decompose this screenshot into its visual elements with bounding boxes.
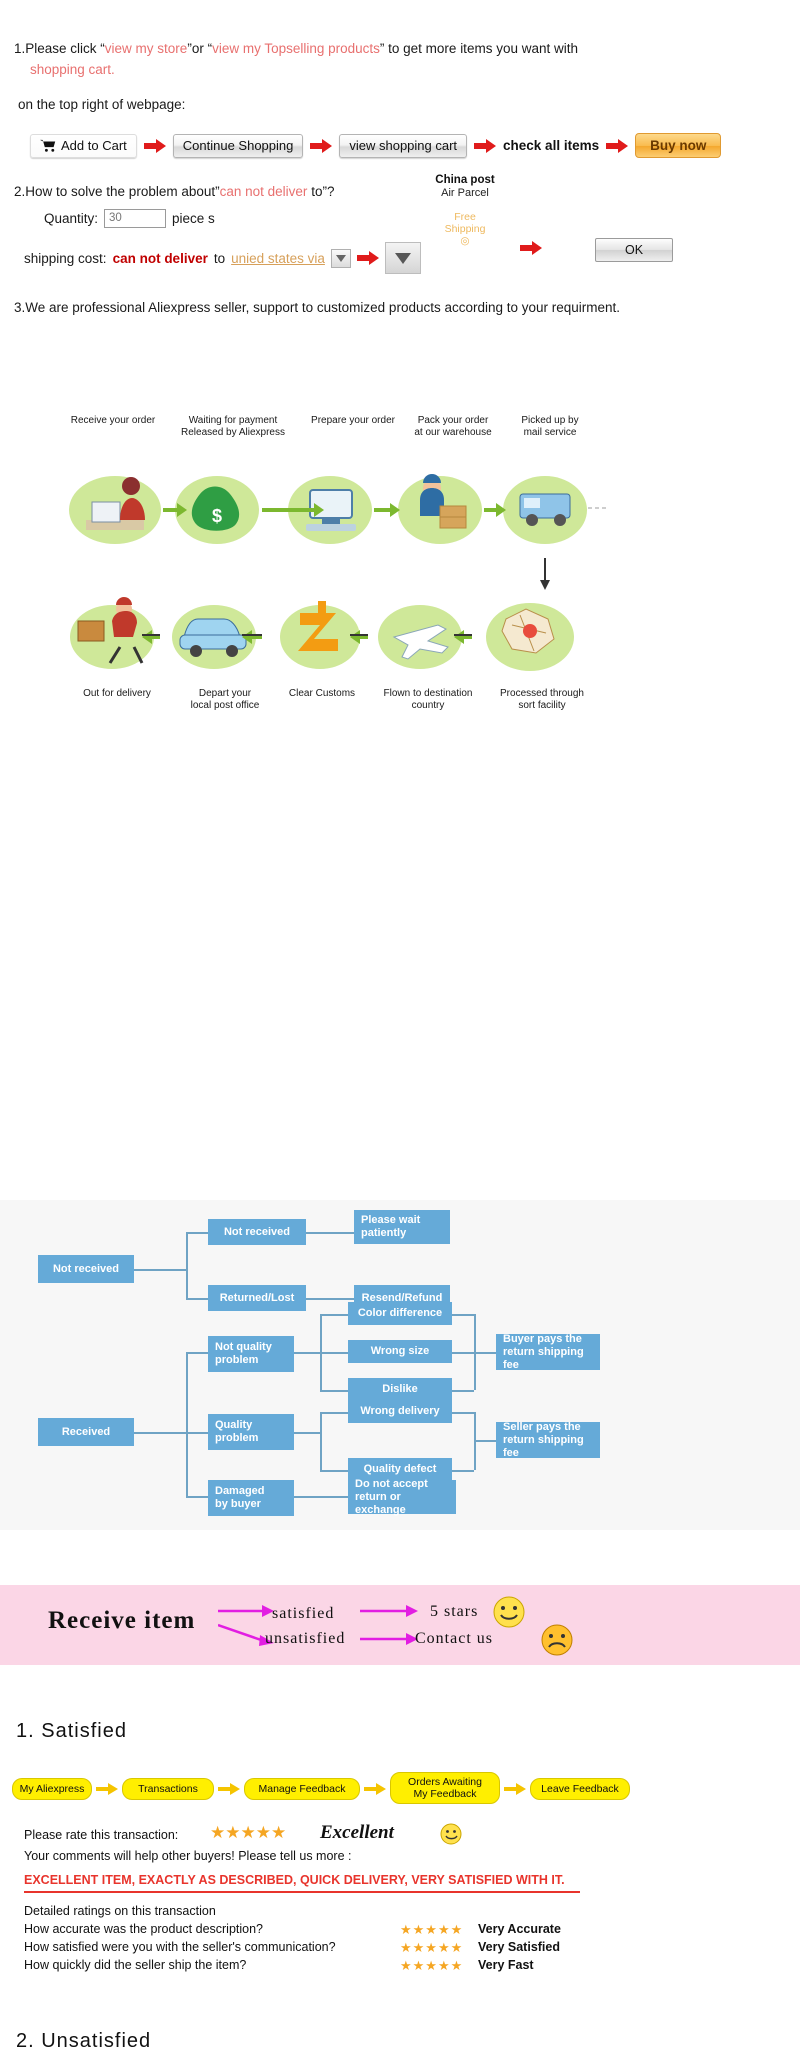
quantity-label: Quantity:	[44, 211, 98, 226]
flow-node-no-return: Do not acceptreturn or exchange	[348, 1480, 456, 1514]
yellow-arrow-icon	[504, 1783, 526, 1795]
flow-label-pack-order: Pack your orderat our warehouse	[398, 415, 508, 439]
section3-heading: 3.We are professional Aliexpress seller,…	[14, 300, 800, 315]
link-view-my-topselling[interactable]: view my Topselling products	[212, 41, 380, 56]
rating-question-0: How accurate was the product description…	[24, 1922, 263, 1936]
shipping-method-dropdown[interactable]	[385, 242, 421, 274]
section-2: 2.How to solve the problem about”can not…	[0, 184, 800, 274]
rating-question-2: How quickly did the seller ship the item…	[24, 1958, 246, 1972]
receive-item-title: Receive item	[48, 1607, 195, 1635]
rating-stars-2[interactable]: ★★★★★	[400, 1958, 463, 1974]
rating-value-1: Very Satisfied	[478, 1940, 560, 1954]
step-my-aliexpress[interactable]: My Aliexpress	[12, 1778, 92, 1800]
add-to-cart-button[interactable]: Add to Cart	[30, 134, 137, 158]
comments-help-label: Your comments will help other buyers! Pl…	[24, 1849, 351, 1863]
smiley-happy-icon	[492, 1595, 526, 1629]
flow-node-not-received-child: Not received	[208, 1219, 306, 1245]
rate-transaction-label: Please rate this transaction:	[24, 1828, 178, 1842]
section1-line1-b: ”or “	[187, 41, 212, 56]
flow-label-receive-order: Receive your order	[58, 415, 168, 427]
step-leave-feedback[interactable]: Leave Feedback	[530, 1778, 630, 1800]
buy-now-label: Buy now	[650, 135, 706, 156]
flow-label-waiting-payment: Waiting for paymentReleased by Aliexpres…	[168, 415, 298, 439]
flow-node-not-received-root: Not received	[38, 1255, 134, 1283]
yellow-arrow-icon	[96, 1783, 118, 1795]
section1-line1-c: ” to get more items you want with	[380, 41, 578, 56]
section2-heading: 2.How to solve the problem about”can not…	[14, 184, 800, 199]
free-shipping-label: Free Shipping ◎	[420, 211, 510, 247]
section1-line2: shopping cart.	[30, 59, 800, 80]
china-post-title: China post	[420, 174, 510, 186]
satisfied-label: satisfied	[272, 1605, 334, 1623]
shipping-label: shipping cost:	[24, 251, 107, 266]
flow-node-received-root: Received	[38, 1418, 134, 1446]
shipping-to: to	[214, 251, 225, 266]
yellow-arrow-icon	[364, 1783, 386, 1795]
rating-stars-1[interactable]: ★★★★★	[400, 1940, 463, 1956]
flow-label-picked-up: Picked up bymail service	[495, 415, 605, 439]
section2-heading-b: to”?	[307, 184, 334, 199]
satisfied-heading: 1. Satisfied	[16, 1720, 127, 1743]
red-arrow-icon	[606, 139, 628, 153]
flow-node-color-difference: Color difference	[348, 1302, 452, 1325]
flow-node-damaged-by-buyer: Damagedby buyer	[208, 1480, 294, 1516]
step-transactions[interactable]: Transactions	[122, 1778, 214, 1800]
continue-shopping-label: Continue Shopping	[183, 135, 294, 156]
unsatisfied-heading: 2. Unsatisfied	[16, 2030, 151, 2053]
yellow-arrow-icon	[218, 1783, 240, 1795]
step-manage-feedback[interactable]: Manage Feedback	[244, 1778, 360, 1800]
buy-now-button[interactable]: Buy now	[635, 133, 721, 158]
view-shopping-cart-label: view shopping cart	[349, 135, 457, 156]
step-orders-awaiting-my-feedback[interactable]: Orders AwaitingMy Feedback	[390, 1772, 500, 1804]
flow-label-sort-facility: Processed throughsort facility	[482, 688, 602, 712]
ok-button[interactable]: OK	[595, 238, 673, 262]
shopping-cart-icon	[40, 139, 56, 152]
detailed-ratings-title: Detailed ratings on this transaction	[24, 1904, 216, 1918]
red-arrow-icon	[357, 251, 379, 265]
flow-label-depart-post-office: Depart yourlocal post office	[170, 688, 280, 712]
quantity-input[interactable]: 30	[104, 209, 166, 228]
china-post-block: China post Air Parcel Free Shipping ◎	[420, 174, 510, 247]
flow-node-quality-problem: Qualityproblem	[208, 1414, 294, 1450]
section2-heading-red: can not deliver	[220, 184, 308, 199]
chevron-down-icon	[336, 255, 346, 262]
red-arrow-icon	[474, 139, 496, 153]
flow-node-buyer-pays: Buyer pays thereturn shipping fee	[496, 1334, 600, 1370]
returns-flowchart: Not received Not received Returned/Lost …	[0, 1200, 800, 1530]
china-post-subtitle: Air Parcel	[420, 187, 510, 199]
flow-label-out-for-delivery: Out for delivery	[62, 688, 172, 700]
excellent-label: Excellent	[320, 1822, 394, 1844]
section1-line1-a: 1.Please click “	[14, 41, 105, 56]
section-3: 3.We are professional Aliexpress seller,…	[0, 300, 800, 315]
link-view-my-store[interactable]: view my store	[105, 41, 188, 56]
flow-node-dislike: Dislike	[348, 1378, 452, 1401]
smiley-sad-icon	[540, 1623, 574, 1657]
rating-value-2: Very Fast	[478, 1958, 534, 1972]
rating-question-1: How satisfied were you with the seller's…	[24, 1940, 336, 1954]
rating-value-0: Very Accurate	[478, 1922, 561, 1936]
unsatisfied-label: unsatisfied	[265, 1630, 345, 1648]
country-dropdown-toggle[interactable]	[331, 249, 351, 268]
continue-shopping-button[interactable]: Continue Shopping	[173, 134, 304, 158]
rating-stars[interactable]: ★★★★★	[210, 1823, 286, 1843]
contact-us-label: Contact us	[415, 1630, 493, 1648]
comment-underline	[24, 1891, 580, 1893]
chevron-down-icon	[395, 253, 411, 264]
add-to-cart-label: Add to Cart	[61, 135, 127, 156]
shipping-cost-error: can not deliver	[113, 251, 208, 266]
flow-node-seller-pays: Seller pays thereturn shipping fee	[496, 1422, 600, 1458]
five-stars-label: 5 stars	[430, 1603, 478, 1621]
section2-heading-a: 2.How to solve the problem about”	[14, 184, 220, 199]
rating-stars-0[interactable]: ★★★★★	[400, 1922, 463, 1938]
flow-node-wrong-delivery: Wrong delivery	[348, 1400, 452, 1423]
flow-node-not-quality-problem: Not qualityproblem	[208, 1336, 294, 1372]
flow-icons-row-bottom	[0, 585, 640, 695]
shipping-flow-diagram: Receive your order Waiting for paymentRe…	[0, 400, 800, 690]
comment-text: EXCELLENT ITEM, EXACTLY AS DESCRIBED, QU…	[24, 1873, 565, 1887]
red-arrow-icon	[144, 139, 166, 153]
flow-label-flown-destination: Flown to destinationcountry	[368, 688, 488, 712]
checkout-steps-row: Add to Cart Continue Shopping view shopp…	[30, 133, 800, 158]
flow-label-prepare-order: Prepare your order	[298, 415, 408, 427]
check-all-items-label[interactable]: check all items	[503, 135, 599, 156]
shipping-country-link[interactable]: unied states via	[231, 251, 325, 266]
red-arrow-icon	[310, 139, 332, 153]
section-1: 1.Please click “view my store”or “view m…	[0, 0, 800, 158]
flow-label-clear-customs: Clear Customs	[272, 688, 372, 700]
info-icon: ◎	[460, 235, 469, 247]
view-shopping-cart-button[interactable]: view shopping cart	[339, 134, 467, 158]
section1-line1: 1.Please click “view my store”or “view m…	[14, 38, 800, 59]
flow-icons-row-top: $	[0, 450, 640, 560]
smiley-happy-icon	[440, 1823, 462, 1845]
svg-text:$: $	[212, 506, 222, 526]
flow-node-please-wait: Please waitpatiently	[354, 1210, 450, 1244]
flow-node-wrong-size: Wrong size	[348, 1340, 452, 1363]
section1-line3: on the top right of webpage:	[18, 94, 800, 115]
shipping-cost-row: shipping cost:can not deliver to unied s…	[24, 242, 800, 274]
receive-item-band: Receive item satisfied unsatisfied 5 sta…	[0, 1585, 800, 1665]
red-arrow-icon	[520, 241, 542, 255]
piece-label: piece s	[172, 211, 215, 226]
flow-node-returned-lost: Returned/Lost	[208, 1285, 306, 1311]
page-root: 1.Please click “view my store”or “view m…	[0, 0, 800, 2000]
